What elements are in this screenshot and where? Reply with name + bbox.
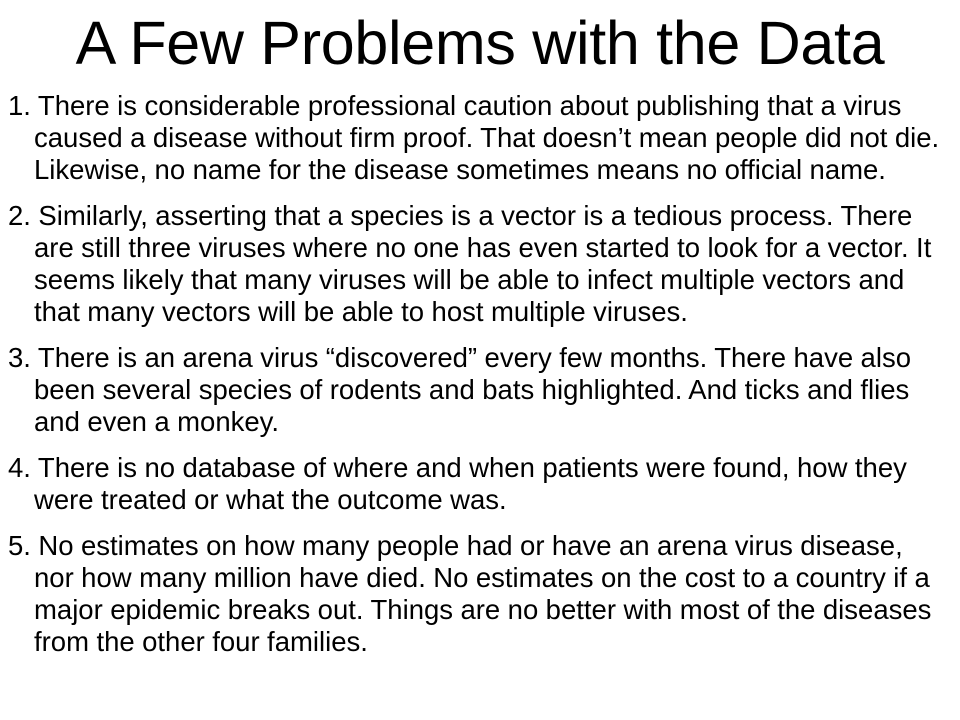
list-item-number: 3.	[8, 342, 38, 373]
problems-list: 1. There is considerable professional ca…	[8, 90, 948, 658]
slide-canvas: A Few Problems with the Data 1. There is…	[0, 0, 960, 720]
list-item-text: There is no database of where and when p…	[34, 452, 907, 515]
list-item-number: 5.	[8, 530, 38, 561]
list-item: 2. Similarly, asserting that a species i…	[8, 200, 948, 328]
list-item-text: No estimates on how many people had or h…	[34, 530, 931, 657]
list-item-number: 4.	[8, 452, 38, 483]
list-item: 1. There is considerable professional ca…	[8, 90, 948, 186]
list-item: 4. There is no database of where and whe…	[8, 452, 948, 516]
list-item-number: 1.	[8, 90, 38, 121]
list-item-number: 2.	[8, 200, 38, 231]
page-title: A Few Problems with the Data	[0, 8, 960, 78]
list-item-text: There is considerable professional cauti…	[34, 90, 939, 185]
list-item-text: Similarly, asserting that a species is a…	[34, 200, 931, 327]
list-item-text: There is an arena virus “discovered” eve…	[34, 342, 911, 437]
list-item: 5. No estimates on how many people had o…	[8, 530, 948, 658]
list-item: 3. There is an arena virus “discovered” …	[8, 342, 948, 438]
